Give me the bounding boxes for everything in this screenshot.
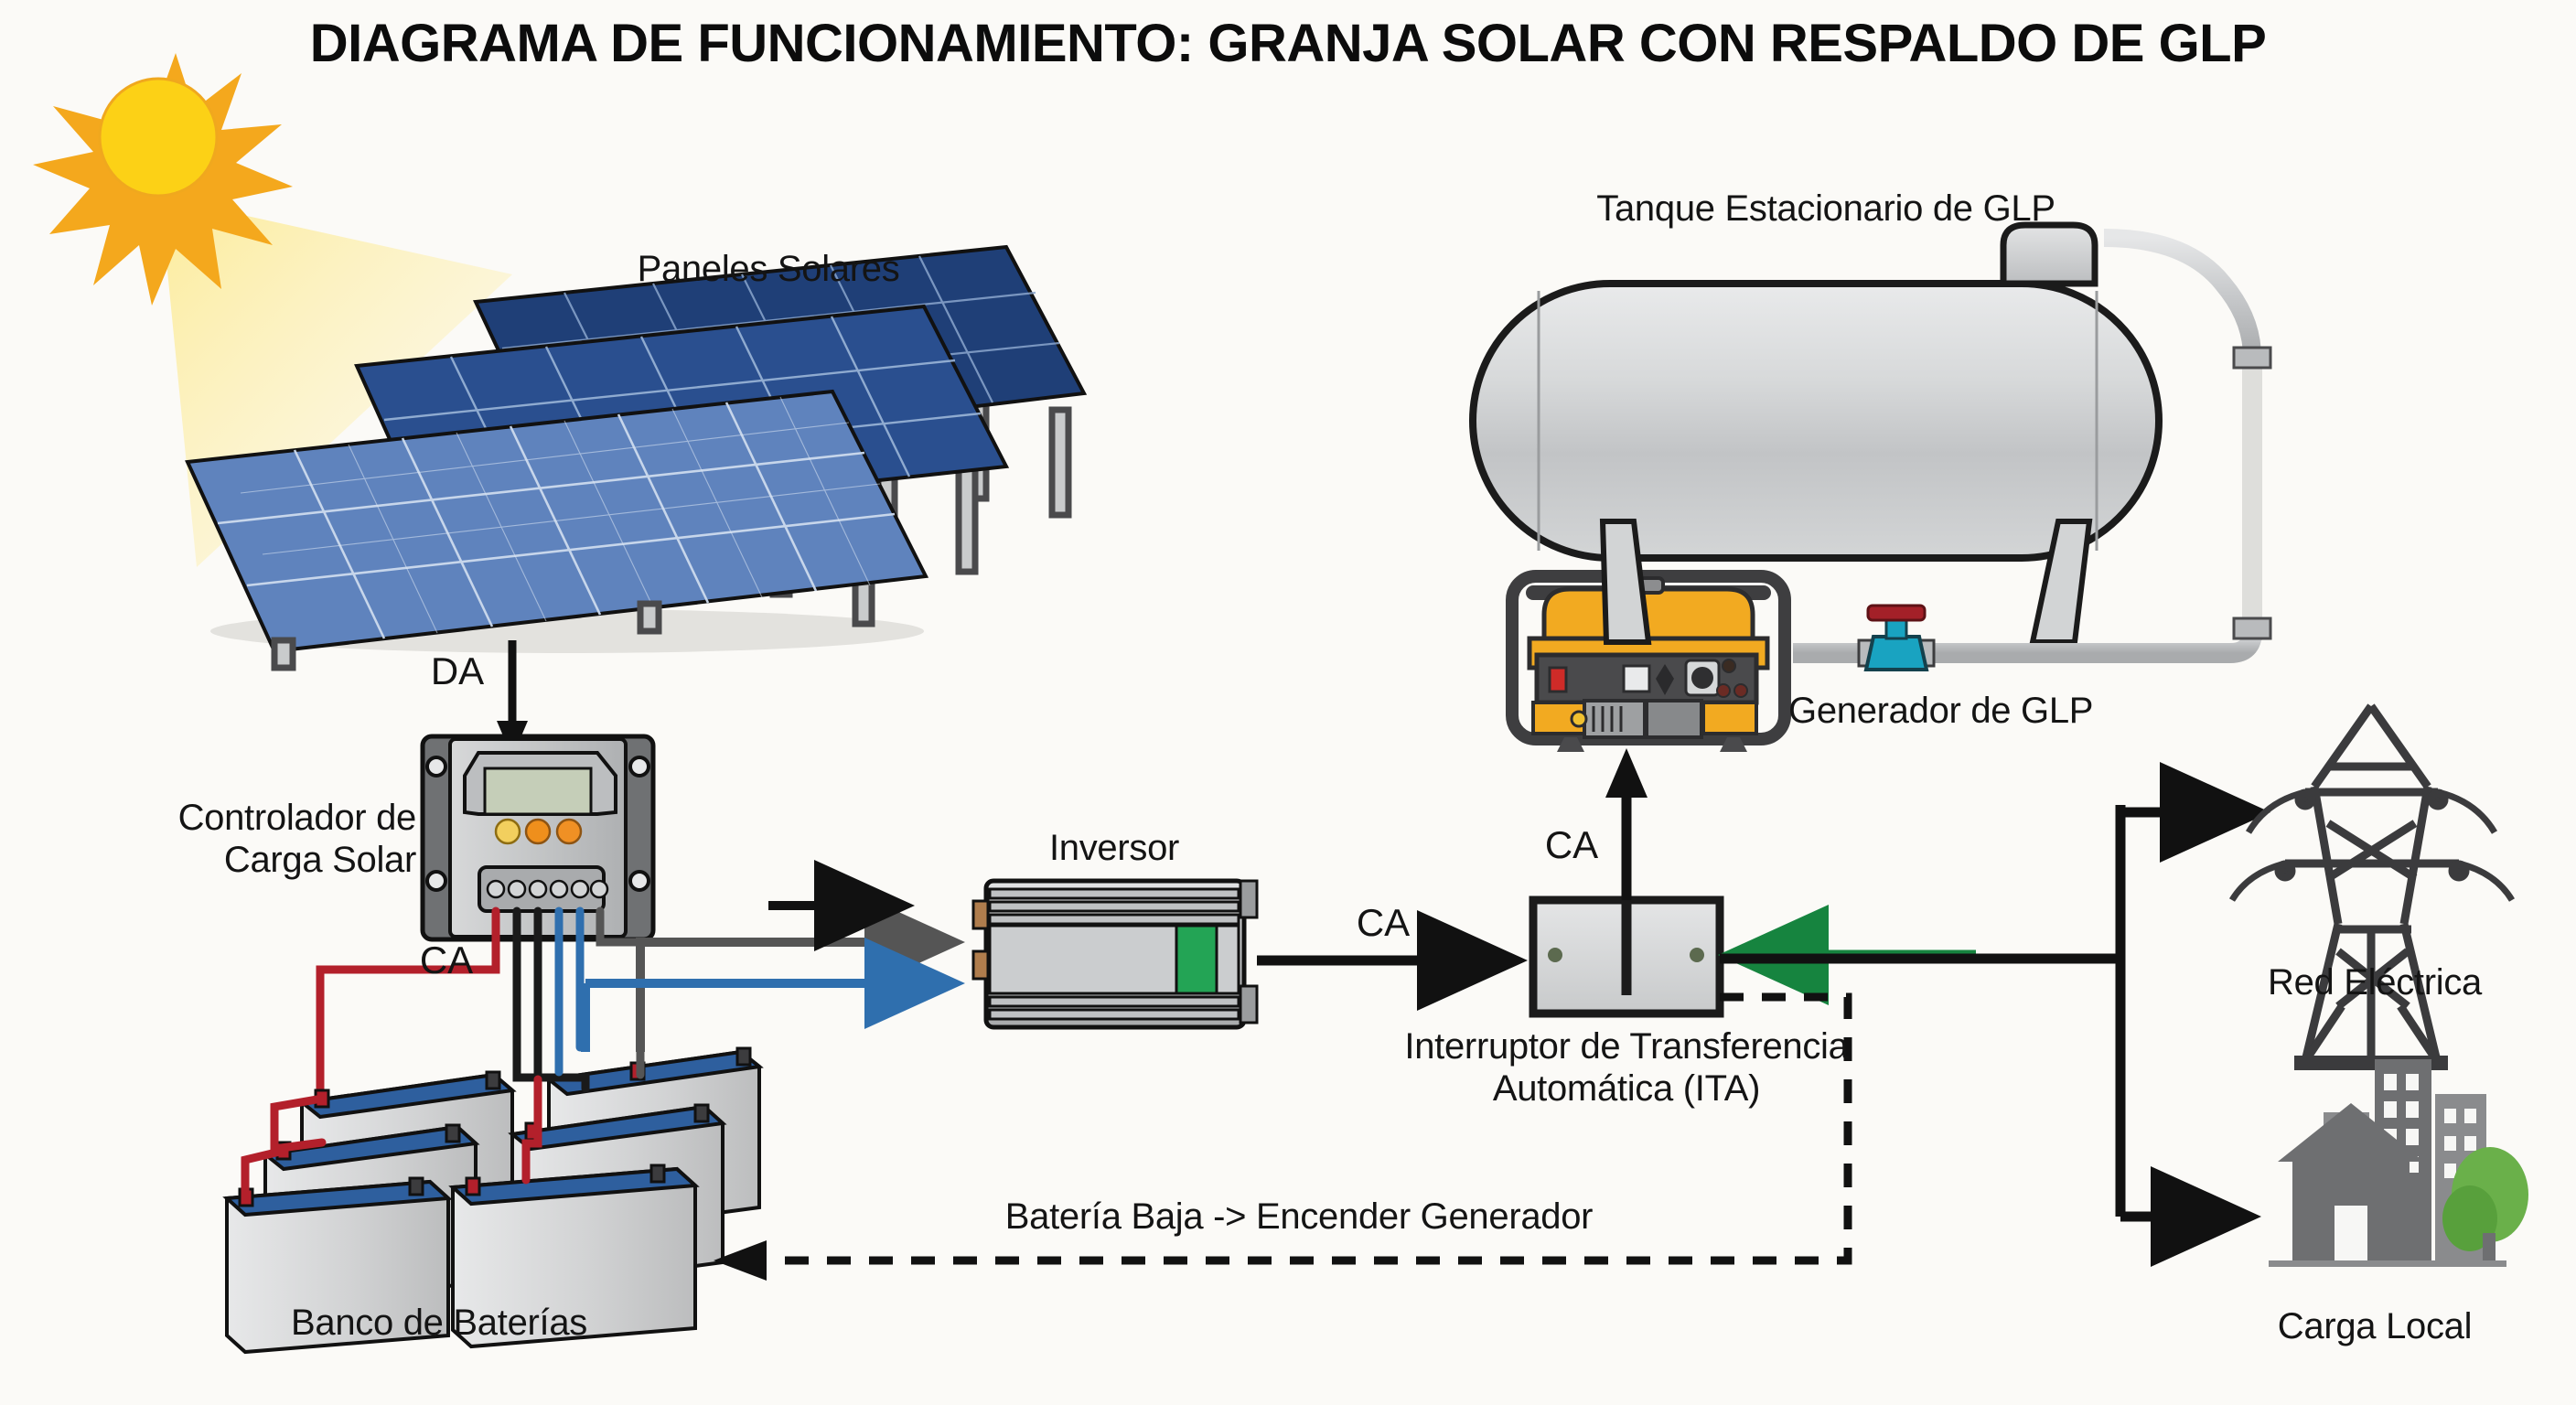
label-battery-bank: Banco de Baterías bbox=[291, 1303, 587, 1344]
label-ats-caption-line2: Automática (ITA) bbox=[1493, 1068, 1760, 1110]
label-charge-controller-line1: Controlador de bbox=[151, 798, 416, 839]
tag-ca-inverter-to-ats: CA bbox=[1357, 901, 1410, 945]
label-ats-caption-line1: Interruptor de Transferencia bbox=[1404, 1026, 1848, 1067]
house-buildings-icon bbox=[2269, 1059, 2528, 1267]
diagram-canvas: DIAGRAMA DE FUNCIONAMIENTO: GRANJA SOLAR… bbox=[0, 0, 2576, 1405]
tag-ca-ats-to-generator: CA bbox=[1545, 823, 1598, 867]
transfer-switch-icon bbox=[1533, 900, 1720, 1014]
lpg-generator-icon bbox=[1512, 576, 1785, 752]
label-grid: Red Eléctrica bbox=[2268, 962, 2482, 1003]
tag-da-panels-to-controller: DA bbox=[431, 649, 484, 693]
label-local-load: Carga Local bbox=[2278, 1306, 2472, 1347]
diagram-artwork bbox=[0, 0, 2576, 1405]
tag-ca-controller-to-batteries: CA bbox=[420, 938, 473, 982]
label-lpg-tank: Tanque Estacionario de GLP bbox=[1596, 188, 2055, 230]
label-charge-controller-line2: Carga Solar bbox=[151, 840, 416, 881]
label-solar-panels: Paneles Solares bbox=[638, 249, 900, 290]
label-lpg-generator: Generador de GLP bbox=[1788, 691, 2093, 732]
transmission-tower-icon bbox=[2232, 706, 2512, 1063]
label-low-battery-note: Batería Baja -> Encender Generador bbox=[1005, 1196, 1593, 1238]
flow-ats-to-generator bbox=[1605, 748, 1648, 900]
inverter-icon bbox=[973, 881, 1257, 1027]
label-inverter: Inversor bbox=[1049, 828, 1179, 869]
ats-output-bus bbox=[1720, 805, 2250, 1217]
